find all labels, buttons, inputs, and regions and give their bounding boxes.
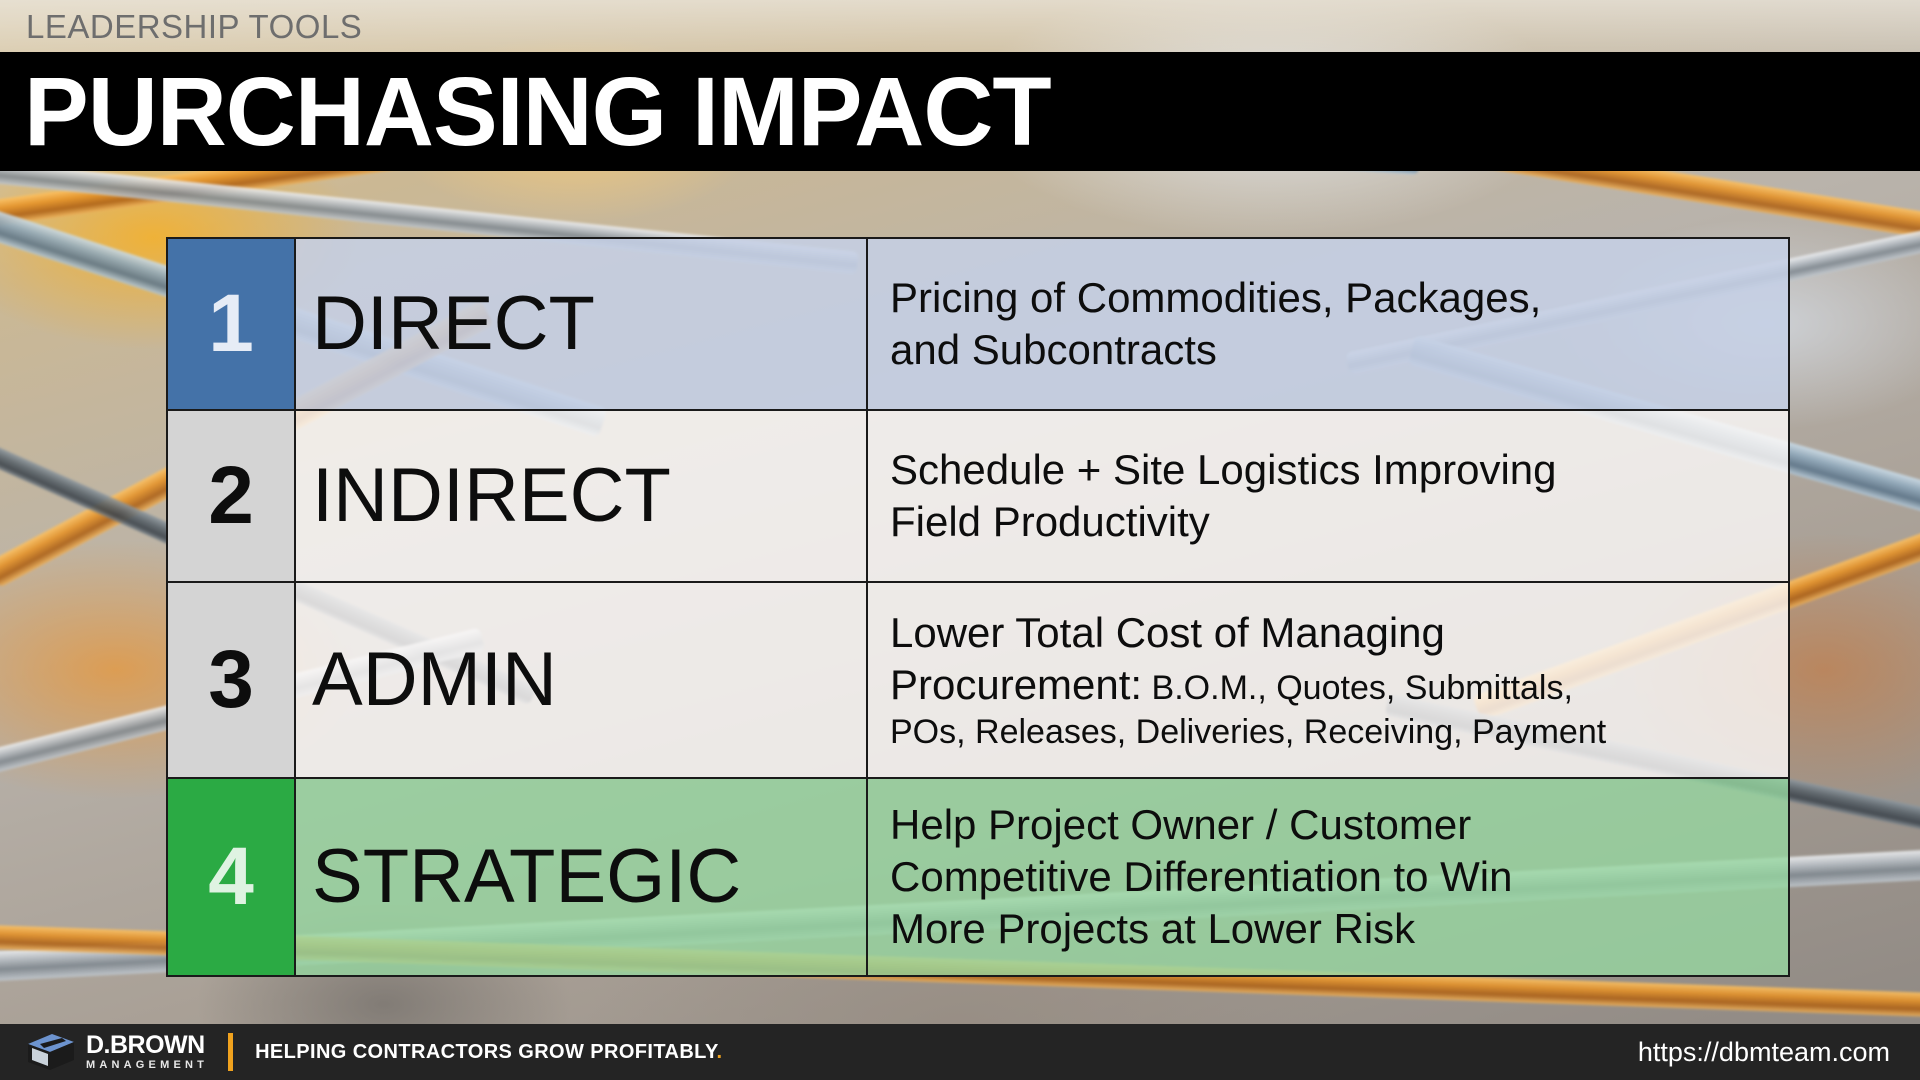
footer-tagline-text: HELPING CONTRACTORS GROW PROFITABLY <box>255 1041 716 1063</box>
desc-line: Help Project Owner / Customer <box>890 799 1770 851</box>
logo-line-1: D.BROWN <box>86 1033 208 1058</box>
eyebrow-label: LEADERSHIP TOOLS <box>26 8 362 46</box>
row-label: STRATEGIC <box>296 779 868 975</box>
row-number-badge: 1 <box>168 239 296 409</box>
page-title: PURCHASING IMPACT <box>0 63 1051 160</box>
desc-line-mixed: Procurement: B.O.M., Quotes, Submittals, <box>890 659 1770 711</box>
desc-line: Field Productivity <box>890 496 1770 548</box>
table-row: 1 DIRECT Pricing of Commodities, Package… <box>168 239 1788 411</box>
row-description: Pricing of Commodities, Packages, and Su… <box>868 239 1788 409</box>
table-row: 4 STRATEGIC Help Project Owner / Custome… <box>168 779 1788 975</box>
desc-line-small: POs, Releases, Deliveries, Receiving, Pa… <box>890 711 1770 753</box>
desc-line: and Subcontracts <box>890 324 1770 376</box>
row-number-badge: 4 <box>168 779 296 975</box>
row-label: DIRECT <box>296 239 868 409</box>
footer-url[interactable]: https://dbmteam.com <box>1638 1037 1890 1068</box>
desc-line: Lower Total Cost of Managing <box>890 607 1770 659</box>
row-description: Lower Total Cost of Managing Procurement… <box>868 583 1788 777</box>
desc-line: Competitive Differentiation to Win <box>890 851 1770 903</box>
row-number-badge: 2 <box>168 411 296 581</box>
logo-line-2: MANAGEMENT <box>86 1060 208 1071</box>
table-row: 3 ADMIN Lower Total Cost of Managing Pro… <box>168 583 1788 779</box>
footer-tagline-dot: . <box>716 1041 722 1063</box>
row-number-badge: 3 <box>168 583 296 777</box>
row-label: ADMIN <box>296 583 868 777</box>
desc-line: Pricing of Commodities, Packages, <box>890 272 1770 324</box>
slide-root: LEADERSHIP TOOLS PURCHASING IMPACT 1 DIR… <box>0 0 1920 1080</box>
row-label: INDIRECT <box>296 411 868 581</box>
footer-bar: D.BROWN MANAGEMENT HELPING CONTRACTORS G… <box>0 1024 1920 1080</box>
row-description: Help Project Owner / Customer Competitiv… <box>868 779 1788 975</box>
desc-line-small: B.O.M., Quotes, Submittals, <box>1142 669 1573 707</box>
table-row: 2 INDIRECT Schedule + Site Logistics Imp… <box>168 411 1788 583</box>
footer-tagline: HELPING CONTRACTORS GROW PROFITABLY. <box>255 1041 722 1064</box>
desc-line: Schedule + Site Logistics Improving <box>890 444 1770 496</box>
desc-line: More Projects at Lower Risk <box>890 903 1770 955</box>
title-bar: PURCHASING IMPACT <box>0 52 1920 171</box>
footer-divider <box>228 1033 233 1071</box>
desc-line-strong: Procurement: <box>890 661 1142 708</box>
dbrown-logo-text: D.BROWN MANAGEMENT <box>86 1033 208 1071</box>
row-description: Schedule + Site Logistics Improving Fiel… <box>868 411 1788 581</box>
dbrown-logo-icon <box>22 1032 76 1072</box>
impact-table: 1 DIRECT Pricing of Commodities, Package… <box>166 237 1790 977</box>
